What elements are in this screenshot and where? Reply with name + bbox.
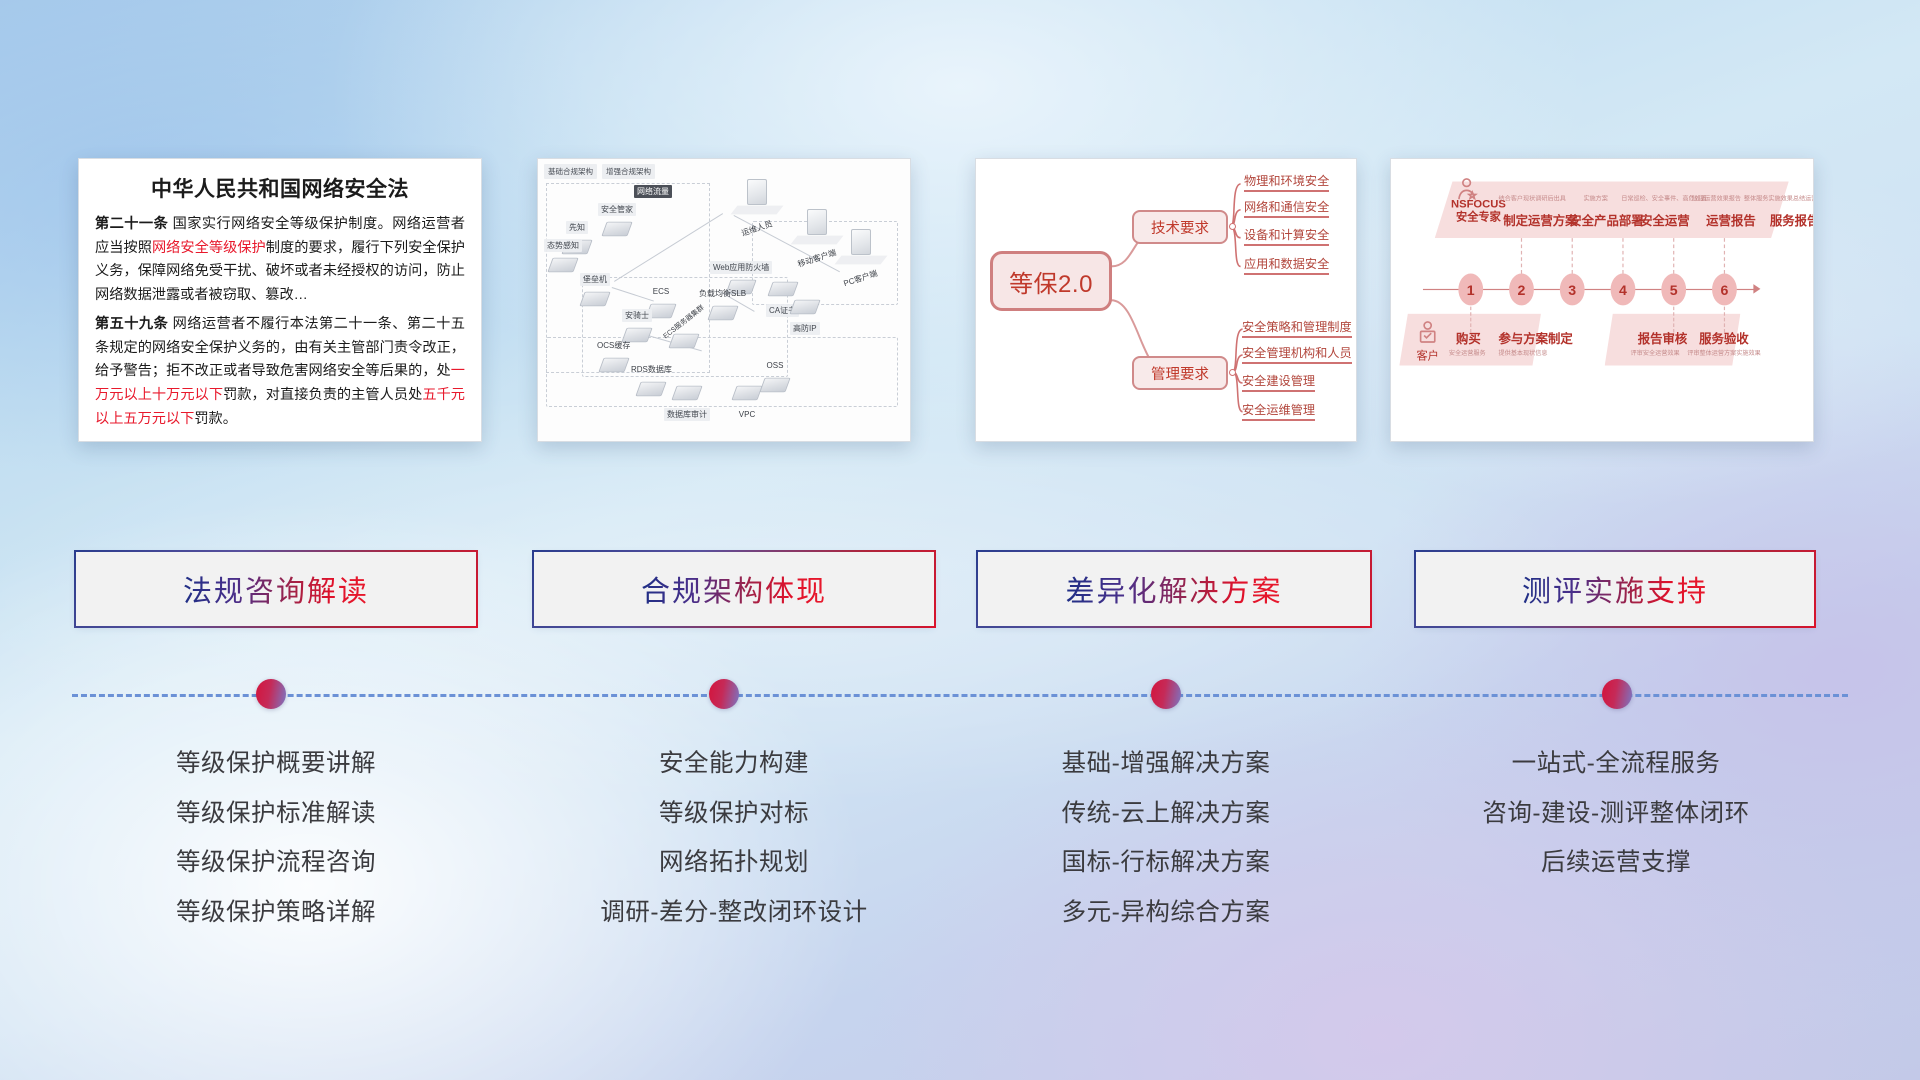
arch-node-label: 安全管家 [598, 203, 636, 216]
timeline-node-dot-3[interactable] [1151, 679, 1181, 709]
arch-node-label: Web应用防火墙 [710, 261, 772, 274]
timeline-customer-action-title: 购买 [1456, 330, 1481, 348]
timeline-step-badge[interactable]: 4 [1611, 274, 1636, 306]
law-text-2c: 罚款。 [194, 411, 237, 427]
timeline-stage-title: 安全运营 [1640, 212, 1690, 230]
law-highlight-1: 网络安全等级保护 [152, 240, 266, 256]
timeline-stage-sub: 阶段运营效果报告 [1692, 195, 1741, 203]
timeline-step-badge[interactable]: 3 [1560, 274, 1585, 306]
section-title-label: 差异化解决方案 [1065, 568, 1282, 610]
server-cube-icon [579, 292, 610, 306]
timeline-customer-action-title: 服务验收 [1699, 330, 1749, 348]
pc-client-icon [851, 229, 871, 255]
section-title-box-3[interactable]: 差异化解决方案 [978, 552, 1370, 626]
arch-node: 态势感知 [544, 235, 582, 275]
platform-icon [731, 206, 784, 215]
rds-cube-icon [636, 382, 667, 396]
timeline-node-dot-1[interactable] [256, 679, 286, 709]
mindmap-leaf: 安全管理机构和人员 [1242, 343, 1352, 364]
arch-node-label: 高防IP [790, 322, 820, 335]
timeline-leader [1673, 307, 1674, 333]
arch-node: 高防IP [790, 295, 820, 336]
arch-node-label: 安骑士 [622, 309, 652, 322]
timeline-stage-title: 运营报告 [1706, 212, 1756, 230]
timeline-leader [1521, 238, 1522, 273]
mindmap-leaf: 安全策略和管理制度 [1242, 317, 1352, 338]
timeline-axis-arrow-icon [1753, 284, 1760, 293]
arch-node-label: ECS [650, 286, 672, 297]
mindmap-branch-management[interactable]: 管理要求 [1132, 356, 1228, 390]
antiddos-cube-icon [789, 300, 820, 314]
mindmap-branch-technical[interactable]: 技术要求 [1132, 210, 1228, 244]
law-title: 中华人民共和国网络安全法 [95, 173, 465, 203]
timeline-step-badge[interactable]: 2 [1509, 274, 1534, 306]
timeline-customer-action-sub: 评审整体运营方案实施效果 [1687, 349, 1760, 357]
law-article-number-1: 第二十一条 [95, 216, 168, 232]
list-item: 调研-差分-整改闭环设计 [534, 901, 934, 926]
list-item: 等级保护概要讲解 [76, 752, 476, 777]
timeline-leader [1470, 307, 1471, 333]
section-items-3: 基础-增强解决方案 传统-云上解决方案 国标-行标解决方案 多元-异构综合方案 [966, 752, 1366, 925]
timeline-customer-action-sub: 提供基本现状信息 [1498, 349, 1547, 357]
list-item: 等级保护策略详解 [76, 901, 476, 926]
arch-tab-basic[interactable]: 基础合规架构 [544, 164, 597, 179]
section-items-2: 安全能力构建 等级保护对标 网络拓扑规划 调研-差分-整改闭环设计 [534, 752, 934, 925]
arch-node-label: OSS [764, 360, 787, 371]
oss-cube-icon [759, 378, 790, 392]
arch-node-label: OCS缓存 [594, 339, 633, 352]
timeline-customer-action-title: 参与方案制定 [1498, 330, 1572, 348]
timeline-node-dot-4[interactable] [1602, 679, 1632, 709]
section-title-box-2[interactable]: 合规架构体现 [534, 552, 934, 626]
list-item: 咨询-建设-测评整体闭环 [1416, 802, 1816, 827]
section-title-box-1[interactable]: 法规咨询解读 [76, 552, 476, 626]
timeline-step-badge[interactable]: 1 [1458, 274, 1483, 306]
ecs-cluster-cube-icon [668, 334, 699, 348]
mindmap-leaf: 网络和通信安全 [1244, 197, 1329, 218]
timeline-leader [1724, 238, 1725, 273]
arch-node: 安全管家 [598, 199, 636, 239]
timeline-leader [1724, 307, 1725, 333]
arch-node: 网络流量 [634, 181, 672, 199]
timeline-customer-label: 客户 [1406, 347, 1448, 364]
list-item: 多元-异构综合方案 [966, 901, 1366, 926]
mindmap-leaf: 安全运维管理 [1242, 400, 1315, 421]
arch-node-label: 数据库审计 [664, 408, 710, 421]
architecture-tabs[interactable]: 基础合规架构 增强合规架构 [544, 164, 655, 179]
section-title-box-4[interactable]: 测评实施支持 [1416, 552, 1814, 626]
section-title-label: 测评实施支持 [1522, 568, 1708, 610]
list-item: 网络拓扑规划 [534, 851, 934, 876]
arch-node: ECS服务器集群 [656, 311, 711, 351]
list-item: 等级保护对标 [534, 802, 934, 827]
mindmap-collapse-dot[interactable] [1229, 369, 1236, 376]
timeline-stage-title: 安全产品部署 [1569, 212, 1643, 230]
arch-node-label: 负载均衡SLB [696, 287, 749, 300]
platform-icon [835, 256, 888, 265]
timeline-step-badge[interactable]: 5 [1661, 274, 1686, 306]
mindmap-collapse-dot[interactable] [1229, 223, 1236, 230]
timeline-customer-action-sub: 安全运营服务 [1449, 349, 1486, 357]
section-title-label: 合规架构体现 [641, 568, 827, 610]
timeline-customer-action-sub: 评审安全运营效果 [1631, 349, 1680, 357]
timeline-customer-action-title: 报告审核 [1638, 330, 1688, 348]
list-item: 等级保护标准解读 [76, 802, 476, 827]
timeline-stage-title: 服务报告 [1770, 212, 1814, 230]
timeline-stage-sub: 整体服务实施效果总结运营效果 [1744, 195, 1814, 203]
arch-node: OSS [762, 355, 788, 395]
law-paragraph-2: 第五十九条 网络运营者不履行本法第二十一条、第二十五条规定的网络安全保护义务的，… [95, 313, 465, 431]
arch-node: 运维人员 [734, 179, 780, 236]
arch-node-label: VPC [736, 409, 758, 420]
list-item: 基础-增强解决方案 [966, 752, 1366, 777]
arch-node-label: 先知 [566, 221, 588, 234]
arch-tab-enhanced[interactable]: 增强合规架构 [602, 164, 655, 179]
timeline-step-badge[interactable]: 6 [1712, 274, 1737, 306]
mindmap-leaf: 物理和环境安全 [1244, 171, 1329, 192]
arch-node-label: 网络流量 [634, 185, 672, 198]
arch-node: 数据库审计 [664, 381, 710, 422]
law-paragraph-1: 第二十一条 国家实行网络安全等级保护制度。网络运营者应当按照网络安全等级保护制度… [95, 213, 465, 307]
section-items-4: 一站式-全流程服务 咨询-建设-测评整体闭环 后续运营支撑 [1416, 752, 1816, 876]
server-cube-icon [601, 222, 632, 236]
platform-icon [791, 236, 844, 245]
list-item: 后续运营支撑 [1416, 851, 1816, 876]
list-item: 安全能力构建 [534, 752, 934, 777]
timeline-node-dot-2[interactable] [709, 679, 739, 709]
timeline-leader [1572, 238, 1573, 273]
timeline-stage-sub: 实施方案 [1583, 195, 1608, 203]
arch-node-label: RDS数据库 [628, 363, 675, 376]
arch-node: PC客户端 [838, 229, 884, 286]
customer-icon [1416, 321, 1440, 347]
arch-node: 移动客户端 [794, 209, 840, 266]
arch-node: VPC [734, 381, 760, 422]
user-screen-icon [747, 179, 767, 205]
card-compliance-architecture[interactable]: 基础合规架构 增强合规架构 网络流量 安全管家 先知 [537, 158, 911, 442]
slb-cube-icon [707, 306, 738, 320]
mindmap-root-node[interactable]: 等保2.0 [990, 251, 1112, 311]
timeline-dashed-line [72, 694, 1848, 697]
arch-node-label: 堡垒机 [580, 273, 610, 286]
law-text-2b: 罚款，对直接负责的主管人员处 [223, 387, 422, 403]
section-items-1: 等级保护概要讲解 等级保护标准解读 等级保护流程咨询 等级保护策略详解 [76, 752, 476, 925]
db-audit-cube-icon [671, 386, 702, 400]
list-item: 等级保护流程咨询 [76, 851, 476, 876]
timeline-leader [1673, 238, 1674, 273]
card-mindmap-dengbao[interactable]: 等保2.0 技术要求 物理和环境安全 网络和通信安全 设备和计算安全 应用和数据… [975, 158, 1357, 442]
card-service-timeline[interactable]: NSFOCUS 安全专家 客户 结合客户现状调研后出具 制定运营方案 实施方案 … [1390, 158, 1814, 442]
server-cube-icon [547, 258, 578, 272]
law-article-number-2: 第五十九条 [95, 316, 168, 332]
mindmap-leaf: 设备和计算安全 [1244, 225, 1329, 246]
timeline-leader [1622, 238, 1623, 273]
arch-node-label: 态势感知 [544, 239, 582, 252]
timeline-stage-title: 制定运营方案 [1503, 212, 1577, 230]
mobile-client-icon [807, 209, 827, 235]
vpc-cube-icon [731, 386, 762, 400]
mindmap-leaf: 应用和数据安全 [1244, 254, 1329, 275]
arch-node: 堡垒机 [580, 269, 610, 309]
list-item: 传统-云上解决方案 [966, 802, 1366, 827]
mindmap-leaf: 安全建设管理 [1242, 371, 1315, 392]
ocs-cube-icon [598, 358, 629, 372]
list-item: 一站式-全流程服务 [1416, 752, 1816, 777]
card-cybersecurity-law[interactable]: 中华人民共和国网络安全法 第二十一条 国家实行网络安全等级保护制度。网络运营者应… [78, 158, 482, 442]
section-title-label: 法规咨询解读 [183, 568, 369, 610]
list-item: 国标-行标解决方案 [966, 851, 1366, 876]
timeline-stage-sub: 结合客户现状调研后出具 [1498, 195, 1565, 203]
